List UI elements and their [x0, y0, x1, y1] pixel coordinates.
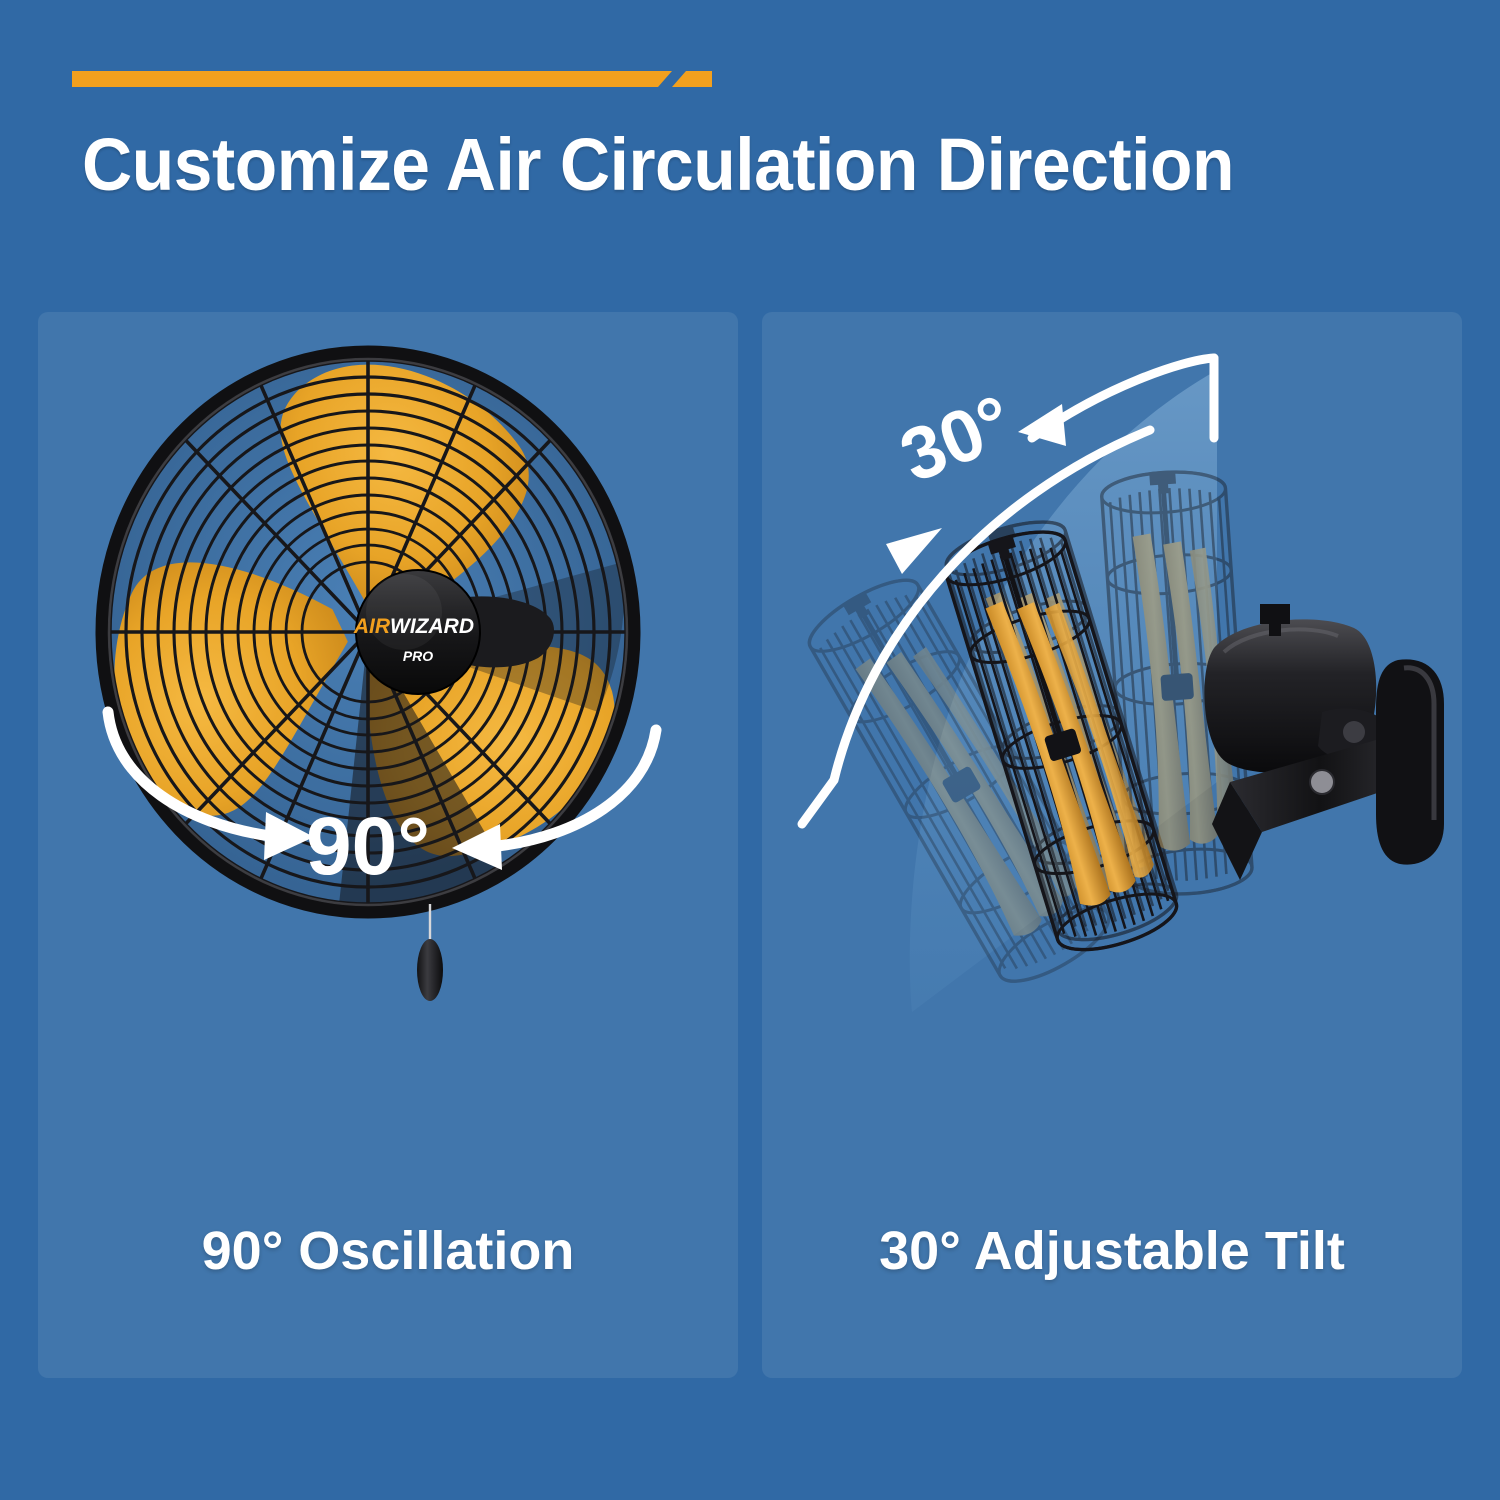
pull-cord-knob: [417, 939, 443, 1001]
tilt-arrow-head-right: [1018, 404, 1066, 446]
accent-bar-dash: [672, 71, 712, 87]
tilt-angle-label: 30°: [889, 379, 1024, 498]
accent-bar: [72, 68, 712, 90]
pull-cord: [417, 904, 443, 1001]
oscillation-figure: AIR WIZARD PRO 90°: [38, 312, 738, 1172]
page-title: Customize Air Circulation Direction: [82, 128, 1360, 202]
tilt-reference-line-lower: [802, 780, 834, 824]
logo-brand-first: AIR: [353, 615, 391, 638]
tilt-pivot: [1343, 721, 1365, 743]
oscillation-angle-label: 90°: [306, 801, 430, 892]
logo-brand-second: WIZARD: [390, 615, 474, 638]
panel-oscillation: AIR WIZARD PRO 90° 90° Oscillation: [38, 312, 738, 1378]
logo-sub: PRO: [403, 648, 433, 664]
accent-bar-long: [72, 71, 672, 87]
panel-tilt: 30° 30° Adjustable Tilt: [762, 312, 1462, 1378]
panel-caption-oscillation: 90° Oscillation: [38, 1220, 738, 1282]
tilt-arrow-head-left: [886, 528, 942, 574]
fan-front-view: AIR WIZARD PRO: [44, 315, 638, 1001]
panel-caption-tilt: 30° Adjustable Tilt: [762, 1220, 1462, 1282]
wall-plate: [1376, 659, 1444, 864]
tilt-figure: 30°: [762, 312, 1462, 1172]
